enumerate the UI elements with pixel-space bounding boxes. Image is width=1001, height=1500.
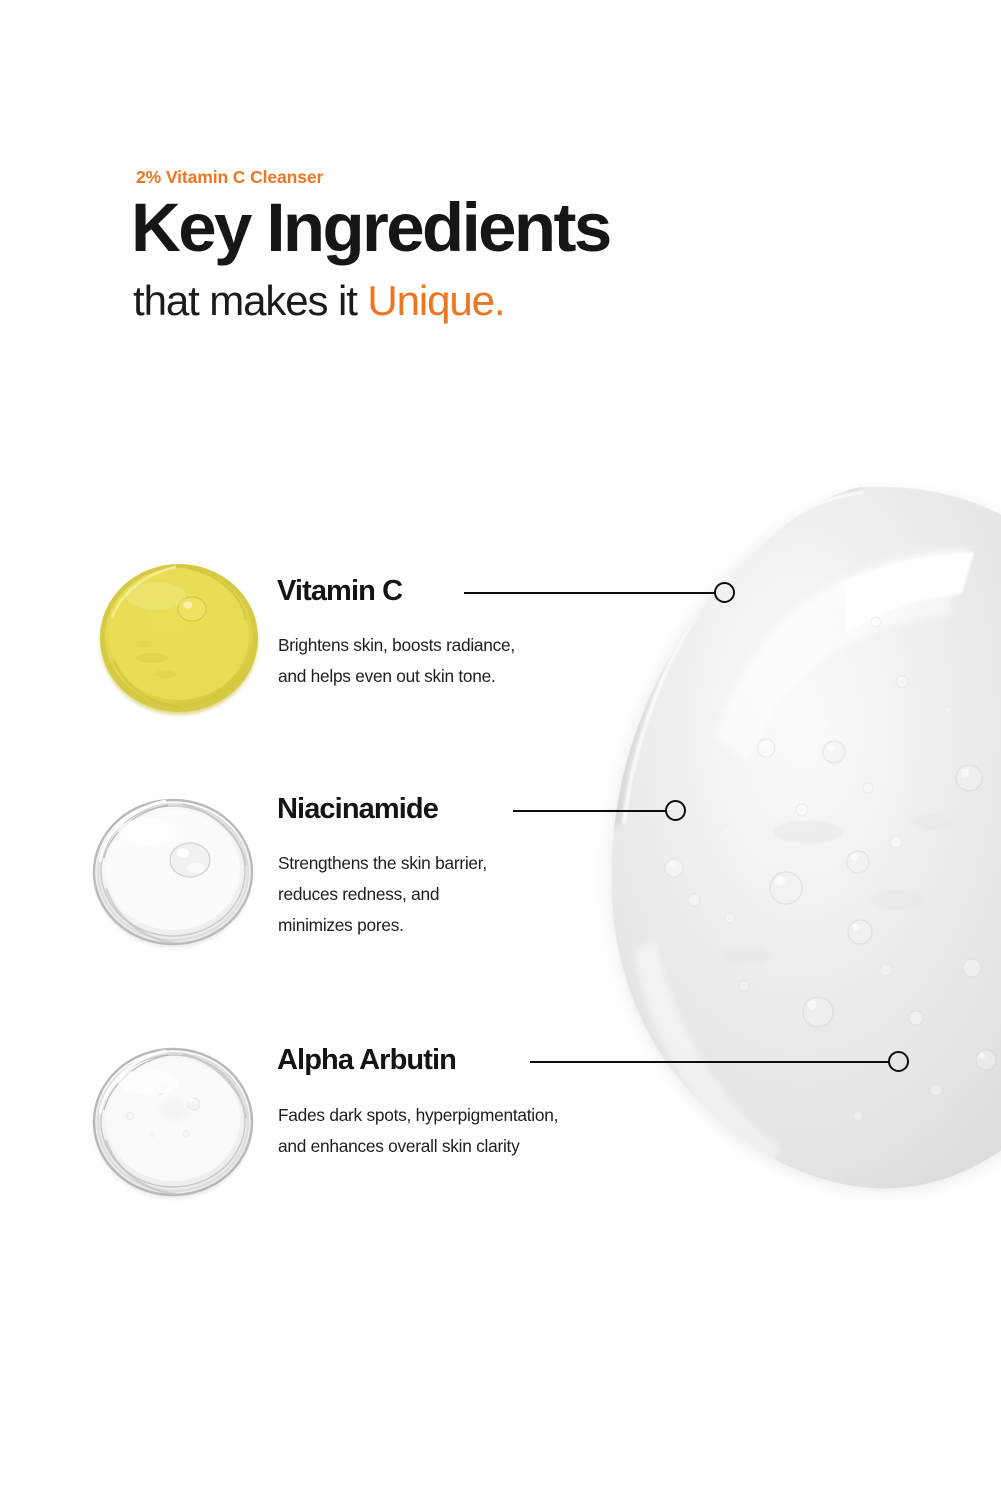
ingredient-description-alpha-arbutin: Fades dark spots, hyperpigmentation, and… [278,1100,558,1162]
ingredient-title-alpha-arbutin: Alpha Arbutin [277,1046,456,1075]
leader-line-with-circle-icon-alpha-arbutin [530,1051,911,1073]
clear-gel-blob-icon [596,470,1001,1200]
description-line: and helps even out skin tone. [278,661,515,692]
yellow-gel-dish-icon [96,556,262,722]
ingredient-title-niacinamide: Niacinamide [277,795,438,824]
description-line: Fades dark spots, hyperpigmentation, [278,1100,558,1131]
leader-circle-icon [665,800,686,821]
subtitle-plain: that makes it [133,277,367,324]
leader-circle-icon [888,1051,909,1072]
description-line: minimizes pores. [278,910,487,941]
white-gel-dish-icon [90,788,256,954]
description-line: Brightens skin, boosts radiance, [278,630,515,661]
subtitle-accent: Unique. [367,277,504,324]
infographic-canvas: 2% Vitamin C Cleanser Key Ingredients th… [0,0,1001,1500]
leader-line-with-circle-icon-vitamin-c [464,582,737,604]
leader-line [464,592,716,594]
ingredient-description-niacinamide: Strengthens the skin barrier, reduces re… [278,848,487,941]
leader-circle-icon [714,582,735,603]
leader-line [513,810,667,812]
page-subtitle: that makes it Unique. [133,280,504,322]
page-title: Key Ingredients [131,193,610,262]
ingredient-description-vitamin-c: Brightens skin, boosts radiance, and hel… [278,630,515,692]
description-line: and enhances overall skin clarity [278,1131,558,1162]
white-cream-dish-icon [90,1038,256,1204]
product-eyebrow: 2% Vitamin C Cleanser [136,167,323,188]
leader-line-with-circle-icon-niacinamide [513,800,688,822]
ingredient-title-vitamin-c: Vitamin C [277,577,402,606]
leader-line [530,1061,890,1063]
description-line: Strengthens the skin barrier, [278,848,487,879]
description-line: reduces redness, and [278,879,487,910]
